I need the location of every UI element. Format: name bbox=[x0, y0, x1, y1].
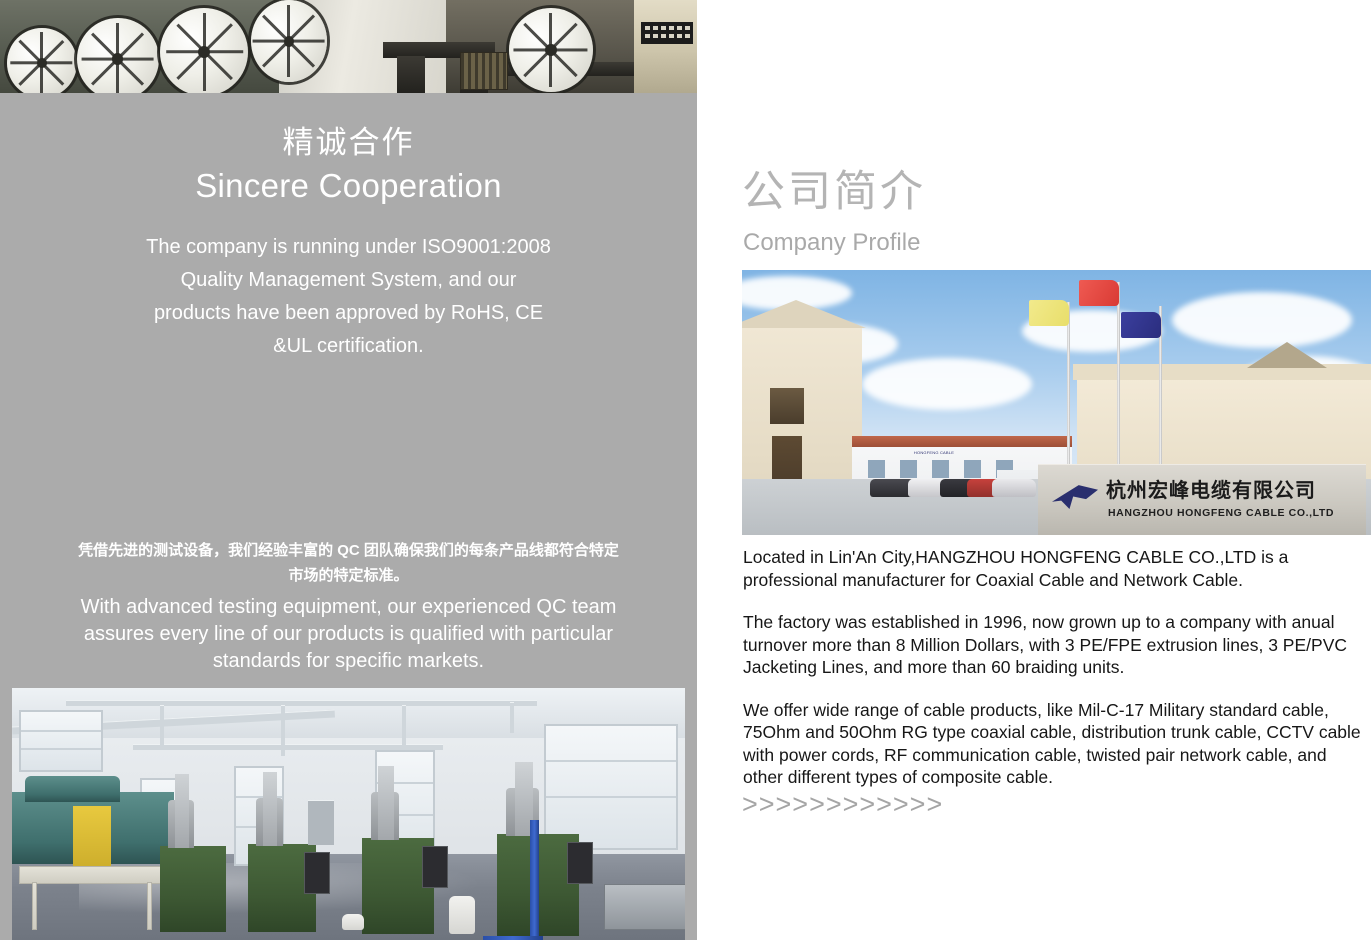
cable-spool-warehouse-photo bbox=[0, 0, 697, 93]
right-title-cn: 公司简介 bbox=[742, 166, 926, 218]
qc-paragraph-en: With advanced testing equipment, our exp… bbox=[60, 594, 637, 675]
hongfeng-logo-icon bbox=[1052, 483, 1098, 509]
factory-building-exterior-photo: HONGFENG CABLE 杭州宏峰电缆有限公司 HANGZHOU HONGF… bbox=[742, 270, 1371, 535]
signboard-text-cn: 杭州宏峰电缆有限公司 bbox=[1106, 479, 1316, 503]
profile-paragraph-3: We offer wide range of cable products, l… bbox=[743, 699, 1363, 789]
right-column: 公司简介 Company Profile bbox=[742, 0, 1371, 940]
left-body-text: The company is running under ISO9001:200… bbox=[0, 231, 697, 363]
left-heading-en: Sincere Cooperation bbox=[0, 164, 697, 208]
right-title-en: Company Profile bbox=[743, 228, 920, 258]
qc-paragraph-cn: 凭借先进的测试设备，我们经验丰富的 QC 团队确保我们的每条产品线都符合特定市场… bbox=[72, 538, 625, 588]
left-heading-block: 精诚合作 Sincere Cooperation bbox=[0, 122, 697, 208]
signboard-text-en: HANGZHOU HONGFENG CABLE CO.,LTD bbox=[1108, 507, 1334, 520]
company-signboard: 杭州宏峰电缆有限公司 HANGZHOU HONGFENG CABLE CO.,L… bbox=[1038, 464, 1366, 535]
left-column: 精诚合作 Sincere Cooperation The company is … bbox=[0, 0, 697, 940]
profile-paragraph-1: Located in Lin'An City,HANGZHOU HONGFENG… bbox=[743, 546, 1363, 591]
injection-molding-workshop-photo bbox=[12, 688, 685, 940]
profile-paragraph-2: The factory was established in 1996, now… bbox=[743, 611, 1363, 679]
chevron-arrows-icon: >>>>>>>>>>>> bbox=[742, 789, 943, 819]
company-profile-text: Located in Lin'An City,HANGZHOU HONGFENG… bbox=[743, 546, 1363, 789]
page-root: 精诚合作 Sincere Cooperation The company is … bbox=[0, 0, 1371, 940]
far-wall-sign-text: HONGFENG CABLE bbox=[910, 450, 958, 455]
left-heading-cn: 精诚合作 bbox=[0, 122, 697, 164]
far-wall-sign: HONGFENG CABLE bbox=[910, 450, 958, 464]
